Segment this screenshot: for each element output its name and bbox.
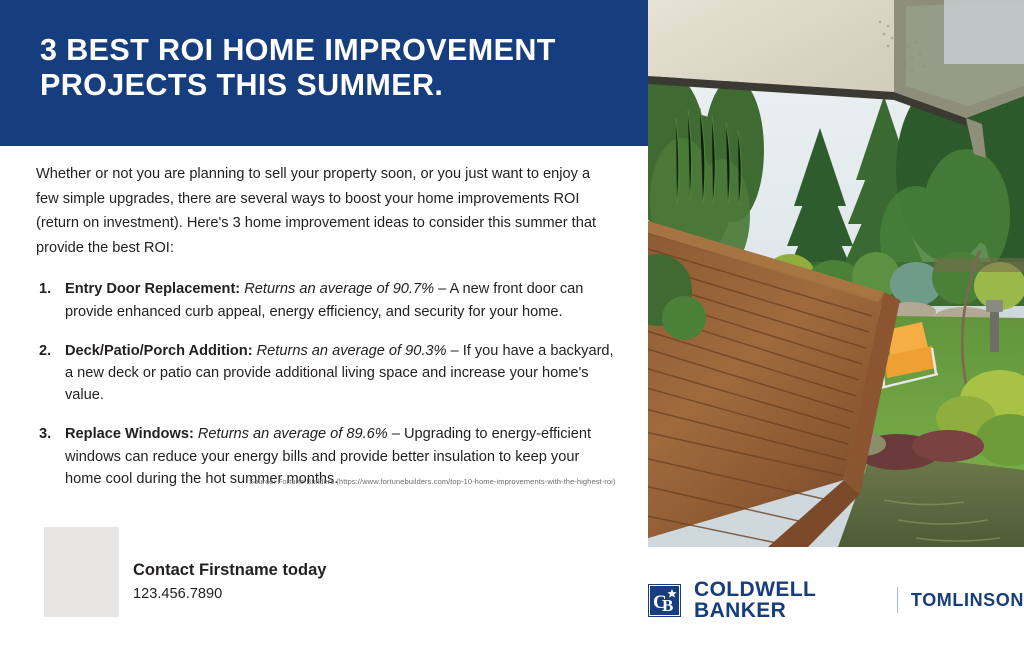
list-item-title: Replace Windows: (65, 426, 194, 442)
backyard-deck-photo (648, 0, 1024, 547)
brand-divider (897, 587, 898, 613)
list-item-stat: Returns an average of 90.3% (257, 343, 447, 359)
cb-monogram-icon: C B (648, 584, 681, 617)
header-band: 3 Best ROI Home Improvement Projects Thi… (0, 0, 648, 146)
list-item-number: 2. (39, 340, 51, 362)
list-item-stat: Returns an average of 90.7% (244, 281, 434, 297)
brand-lockup: C B Coldwell Banker Tomlinson (648, 583, 1024, 617)
contact-block: Contact Firstname today 123.456.7890 (133, 559, 326, 605)
list-item-stat: Returns an average of 89.6% (198, 426, 388, 442)
intro-paragraph: Whether or not you are planning to sell … (36, 162, 616, 260)
contact-phone: 123.456.7890 (133, 583, 326, 605)
roi-list: 1.Entry Door Replacement: Returns an ave… (36, 278, 616, 490)
contact-name: Contact Firstname today (133, 559, 326, 581)
list-item-title: Entry Door Replacement: (65, 281, 240, 297)
list-item: 2.Deck/Patio/Porch Addition: Returns an … (36, 340, 616, 407)
brand-affiliate-name: Tomlinson (911, 591, 1024, 609)
svg-text:B: B (662, 596, 673, 615)
flyer-page: 3 Best ROI Home Improvement Projects Thi… (0, 0, 1024, 663)
list-item-number: 1. (39, 278, 51, 300)
brand-name: Coldwell Banker (694, 579, 883, 621)
page-title: 3 Best ROI Home Improvement Projects Thi… (40, 33, 630, 103)
list-item-number: 3. (39, 423, 51, 445)
agent-photo-placeholder (44, 527, 119, 617)
list-item-title: Deck/Patio/Porch Addition: (65, 343, 253, 359)
source-attribution: Source: Fortune Builders (https://www.fo… (249, 477, 615, 487)
list-item: 1.Entry Door Replacement: Returns an ave… (36, 278, 616, 322)
body-column: Whether or not you are planning to sell … (36, 162, 616, 507)
